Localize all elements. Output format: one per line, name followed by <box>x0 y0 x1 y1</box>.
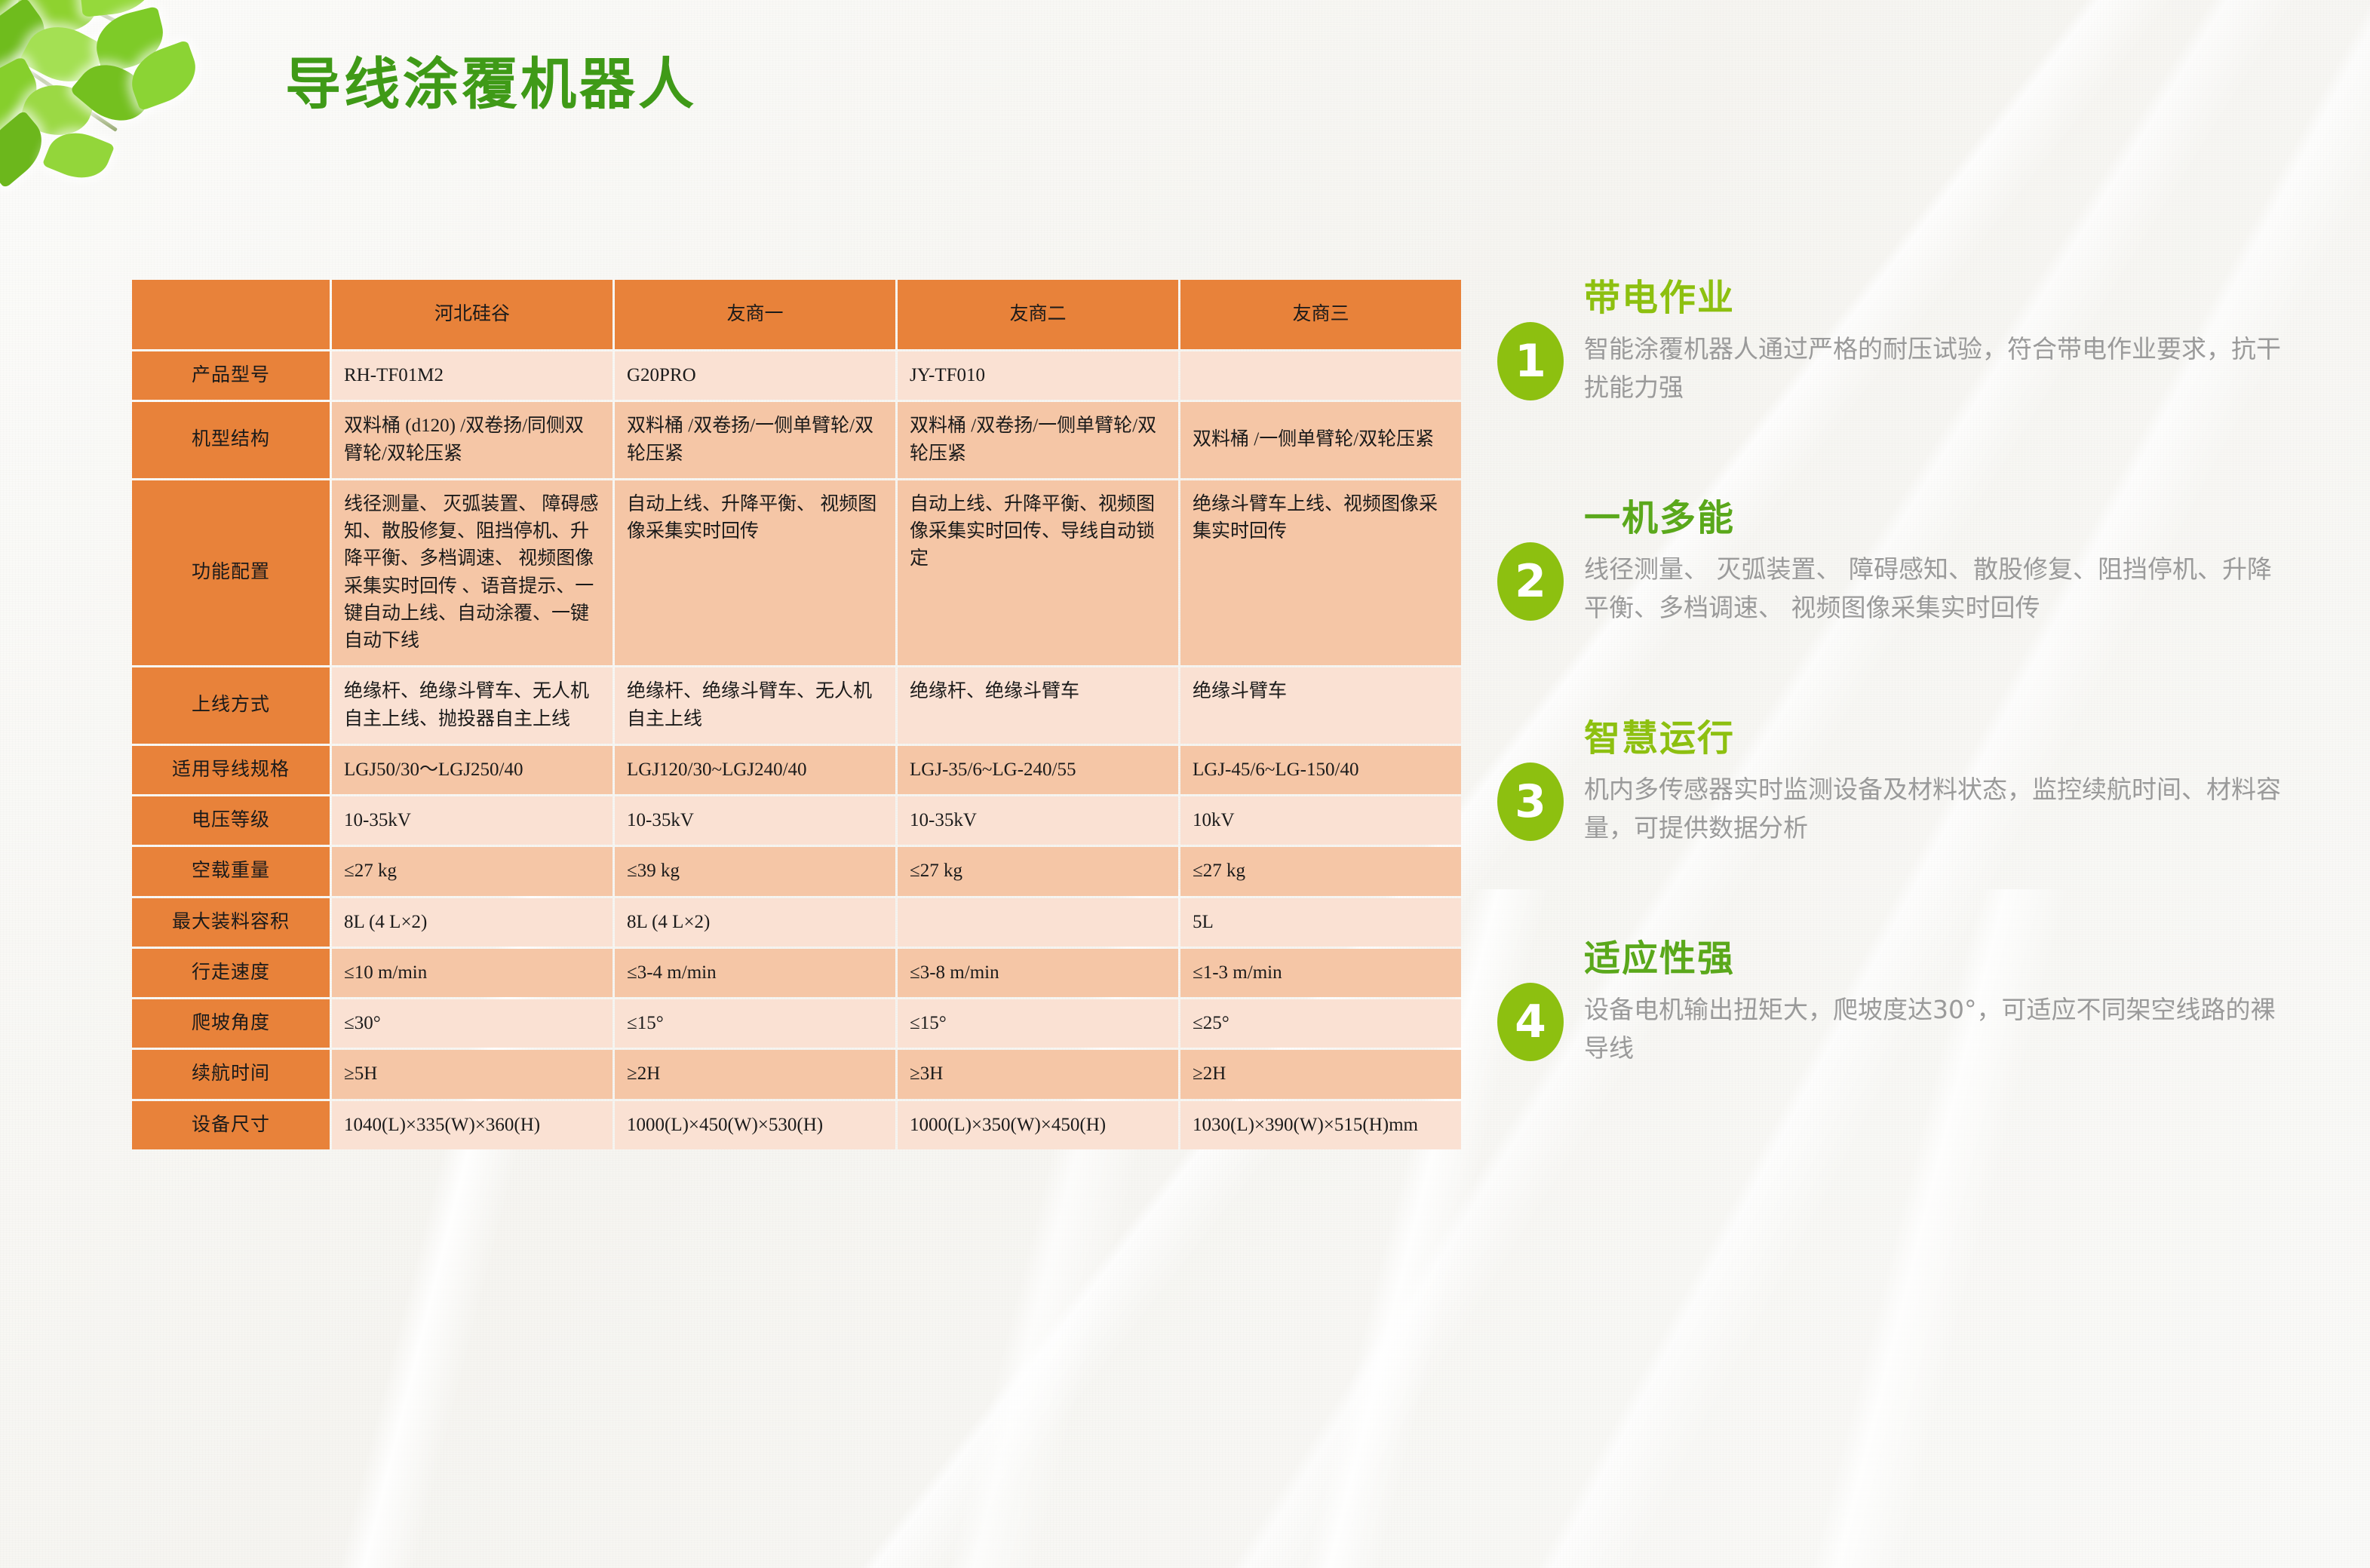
table-cell <box>1180 351 1461 400</box>
feature-item-4: 适应性强 4 设备电机输出扭矩大，爬坡度达30°，可适应不同架空线路的裸导线 <box>1497 928 2297 1117</box>
feature-body: 设备电机输出扭矩大，爬坡度达30°，可适应不同架空线路的裸导线 <box>1584 990 2286 1067</box>
page-title: 导线涂覆机器人 <box>285 39 697 120</box>
table-row: 功能配置 线径测量、 灭弧装置、 障碍感知、散股修复、阻挡停机、升降平衡、多档调… <box>132 480 1461 666</box>
row-label: 爬坡角度 <box>132 999 330 1048</box>
table-cell: ≤27 kg <box>898 847 1178 895</box>
table-cell: 自动上线、升降平衡、视频图像采集实时回传、导线自动锁定 <box>898 480 1178 666</box>
row-label: 机型结构 <box>132 402 330 478</box>
table-cell: 1030(L)×390(W)×515(H)mm <box>1180 1101 1461 1149</box>
table-cell <box>898 898 1178 947</box>
feature-number-badge: 4 <box>1497 983 1564 1061</box>
table-row: 电压等级 10-35kV 10-35kV 10-35kV 10kV <box>132 796 1461 845</box>
row-label: 上线方式 <box>132 667 330 744</box>
table-cell: 10-35kV <box>615 796 895 845</box>
table-cell: ≤27 kg <box>332 847 612 895</box>
table-cell: ≤15° <box>615 999 895 1048</box>
row-label: 续航时间 <box>132 1050 330 1098</box>
row-label: 适用导线规格 <box>132 746 330 794</box>
table-cell: 8L (4 L×2) <box>332 898 612 947</box>
table-cell: 10-35kV <box>898 796 1178 845</box>
table-row: 最大装料容积 8L (4 L×2) 8L (4 L×2) 5L <box>132 898 1461 947</box>
table-cell: 双料桶 (d120) /双卷扬/同侧双臂轮/双轮压紧 <box>332 402 612 478</box>
table-cell: RH-TF01M2 <box>332 351 612 400</box>
table-cell: 10kV <box>1180 796 1461 845</box>
feature-number-badge: 1 <box>1497 322 1564 400</box>
row-label: 空载重量 <box>132 847 330 895</box>
table-corner-cell <box>132 280 330 349</box>
column-header-3: 友商三 <box>1180 280 1461 349</box>
table-row: 续航时间 ≥5H ≥2H ≥3H ≥2H <box>132 1050 1461 1098</box>
table-cell: ≤25° <box>1180 999 1461 1048</box>
table-cell: ≥2H <box>615 1050 895 1098</box>
feature-body: 机内多传感器实时监测设备及材料状态，监控续航时间、材料容量，可提供数据分析 <box>1584 770 2286 847</box>
table-cell: ≤1-3 m/min <box>1180 949 1461 997</box>
row-label: 设备尺寸 <box>132 1101 330 1149</box>
table-cell: ≤3-4 m/min <box>615 949 895 997</box>
table-cell: ≤27 kg <box>1180 847 1461 895</box>
table-cell: ≤15° <box>898 999 1178 1048</box>
column-header-0: 河北硅谷 <box>332 280 612 349</box>
feature-item-3: 智慧运行 3 机内多传感器实时监测设备及材料状态，监控续航时间、材料容量，可提供… <box>1497 708 2297 897</box>
table-cell: 双料桶 /双卷扬/一侧单臂轮/双轮压紧 <box>615 402 895 478</box>
column-header-1: 友商一 <box>615 280 895 349</box>
table-row: 上线方式 绝缘杆、绝缘斗臂车、无人机自主上线、抛投器自主上线 绝缘杆、绝缘斗臂车… <box>132 667 1461 744</box>
row-label: 最大装料容积 <box>132 898 330 947</box>
table-header-row: 河北硅谷 友商一 友商二 友商三 <box>132 280 1461 349</box>
table-cell: ≤10 m/min <box>332 949 612 997</box>
table-row: 空载重量 ≤27 kg ≤39 kg ≤27 kg ≤27 kg <box>132 847 1461 895</box>
table-cell: ≥3H <box>898 1050 1178 1098</box>
table-row: 适用导线规格 LGJ50/30～LGJ250/40 LGJ120/30~LGJ2… <box>132 746 1461 794</box>
table-cell: 绝缘斗臂车上线、视频图像采集实时回传 <box>1180 480 1461 666</box>
row-label: 功能配置 <box>132 480 330 666</box>
table-cell: 5L <box>1180 898 1461 947</box>
table-row: 爬坡角度 ≤30° ≤15° ≤15° ≤25° <box>132 999 1461 1048</box>
table-cell: LGJ120/30~LGJ240/40 <box>615 746 895 794</box>
feature-number-badge: 2 <box>1497 542 1564 621</box>
feature-title: 一机多能 <box>1584 488 2297 541</box>
feature-list: 带电作业 1 智能涂覆机器人通过严格的耐压试验，符合带电作业要求，抗干扰能力强 … <box>1497 268 2297 1149</box>
table-cell: ≥5H <box>332 1050 612 1098</box>
table-cell: 1000(L)×450(W)×530(H) <box>615 1101 895 1149</box>
table-row: 设备尺寸 1040(L)×335(W)×360(H) 1000(L)×450(W… <box>132 1101 1461 1149</box>
row-label: 行走速度 <box>132 949 330 997</box>
table-cell: LGJ-45/6~LG-150/40 <box>1180 746 1461 794</box>
table-cell: 绝缘斗臂车 <box>1180 667 1461 744</box>
table-row: 产品型号 RH-TF01M2 G20PRO JY-TF010 <box>132 351 1461 400</box>
feature-item-2: 一机多能 2 线径测量、 灭弧装置、 障碍感知、散股修复、阻挡停机、升降平衡、多… <box>1497 488 2297 677</box>
table-cell: 双料桶 /一侧单臂轮/双轮压紧 <box>1180 402 1461 478</box>
feature-body: 智能涂覆机器人通过严格的耐压试验，符合带电作业要求，抗干扰能力强 <box>1584 330 2286 407</box>
table-cell: 绝缘杆、绝缘斗臂车、无人机自主上线 <box>615 667 895 744</box>
slide-root: 导线涂覆机器人 河北硅谷 友商一 友商二 友商三 产品型号 RH-TF01M2 … <box>0 0 2370 1568</box>
table-row: 机型结构 双料桶 (d120) /双卷扬/同侧双臂轮/双轮压紧 双料桶 /双卷扬… <box>132 402 1461 478</box>
spec-comparison-table: 河北硅谷 友商一 友商二 友商三 产品型号 RH-TF01M2 G20PRO J… <box>130 278 1463 1152</box>
table-row: 行走速度 ≤10 m/min ≤3-4 m/min ≤3-8 m/min ≤1-… <box>132 949 1461 997</box>
table-cell: LGJ-35/6~LG-240/55 <box>898 746 1178 794</box>
table-cell: 线径测量、 灭弧装置、 障碍感知、散股修复、阻挡停机、升降平衡、多档调速、 视频… <box>332 480 612 666</box>
table-cell: 1040(L)×335(W)×360(H) <box>332 1101 612 1149</box>
table-cell: ≥2H <box>1180 1050 1461 1098</box>
table-cell: ≤39 kg <box>615 847 895 895</box>
feature-title: 适应性强 <box>1584 928 2297 981</box>
table-cell: G20PRO <box>615 351 895 400</box>
feature-title: 带电作业 <box>1584 268 2297 321</box>
table-cell: 自动上线、升降平衡、 视频图像采集实时回传 <box>615 480 895 666</box>
feature-title: 智慧运行 <box>1584 708 2297 761</box>
feature-number-badge: 3 <box>1497 763 1564 841</box>
feature-item-1: 带电作业 1 智能涂覆机器人通过严格的耐压试验，符合带电作业要求，抗干扰能力强 <box>1497 268 2297 456</box>
table-cell: 绝缘杆、绝缘斗臂车 <box>898 667 1178 744</box>
table-cell: LGJ50/30～LGJ250/40 <box>332 746 612 794</box>
row-label: 产品型号 <box>132 351 330 400</box>
table-cell: 10-35kV <box>332 796 612 845</box>
row-label: 电压等级 <box>132 796 330 845</box>
table-cell: 绝缘杆、绝缘斗臂车、无人机自主上线、抛投器自主上线 <box>332 667 612 744</box>
table-cell: ≤30° <box>332 999 612 1048</box>
table-cell: 双料桶 /双卷扬/一侧单臂轮/双轮压紧 <box>898 402 1178 478</box>
column-header-2: 友商二 <box>898 280 1178 349</box>
table-cell: 1000(L)×350(W)×450(H) <box>898 1101 1178 1149</box>
leaves-decoration <box>0 0 234 196</box>
table-cell: JY-TF010 <box>898 351 1178 400</box>
table-cell: 8L (4 L×2) <box>615 898 895 947</box>
feature-body: 线径测量、 灭弧装置、 障碍感知、散股修复、阻挡停机、升降平衡、多档调速、 视频… <box>1584 550 2286 627</box>
table-cell: ≤3-8 m/min <box>898 949 1178 997</box>
